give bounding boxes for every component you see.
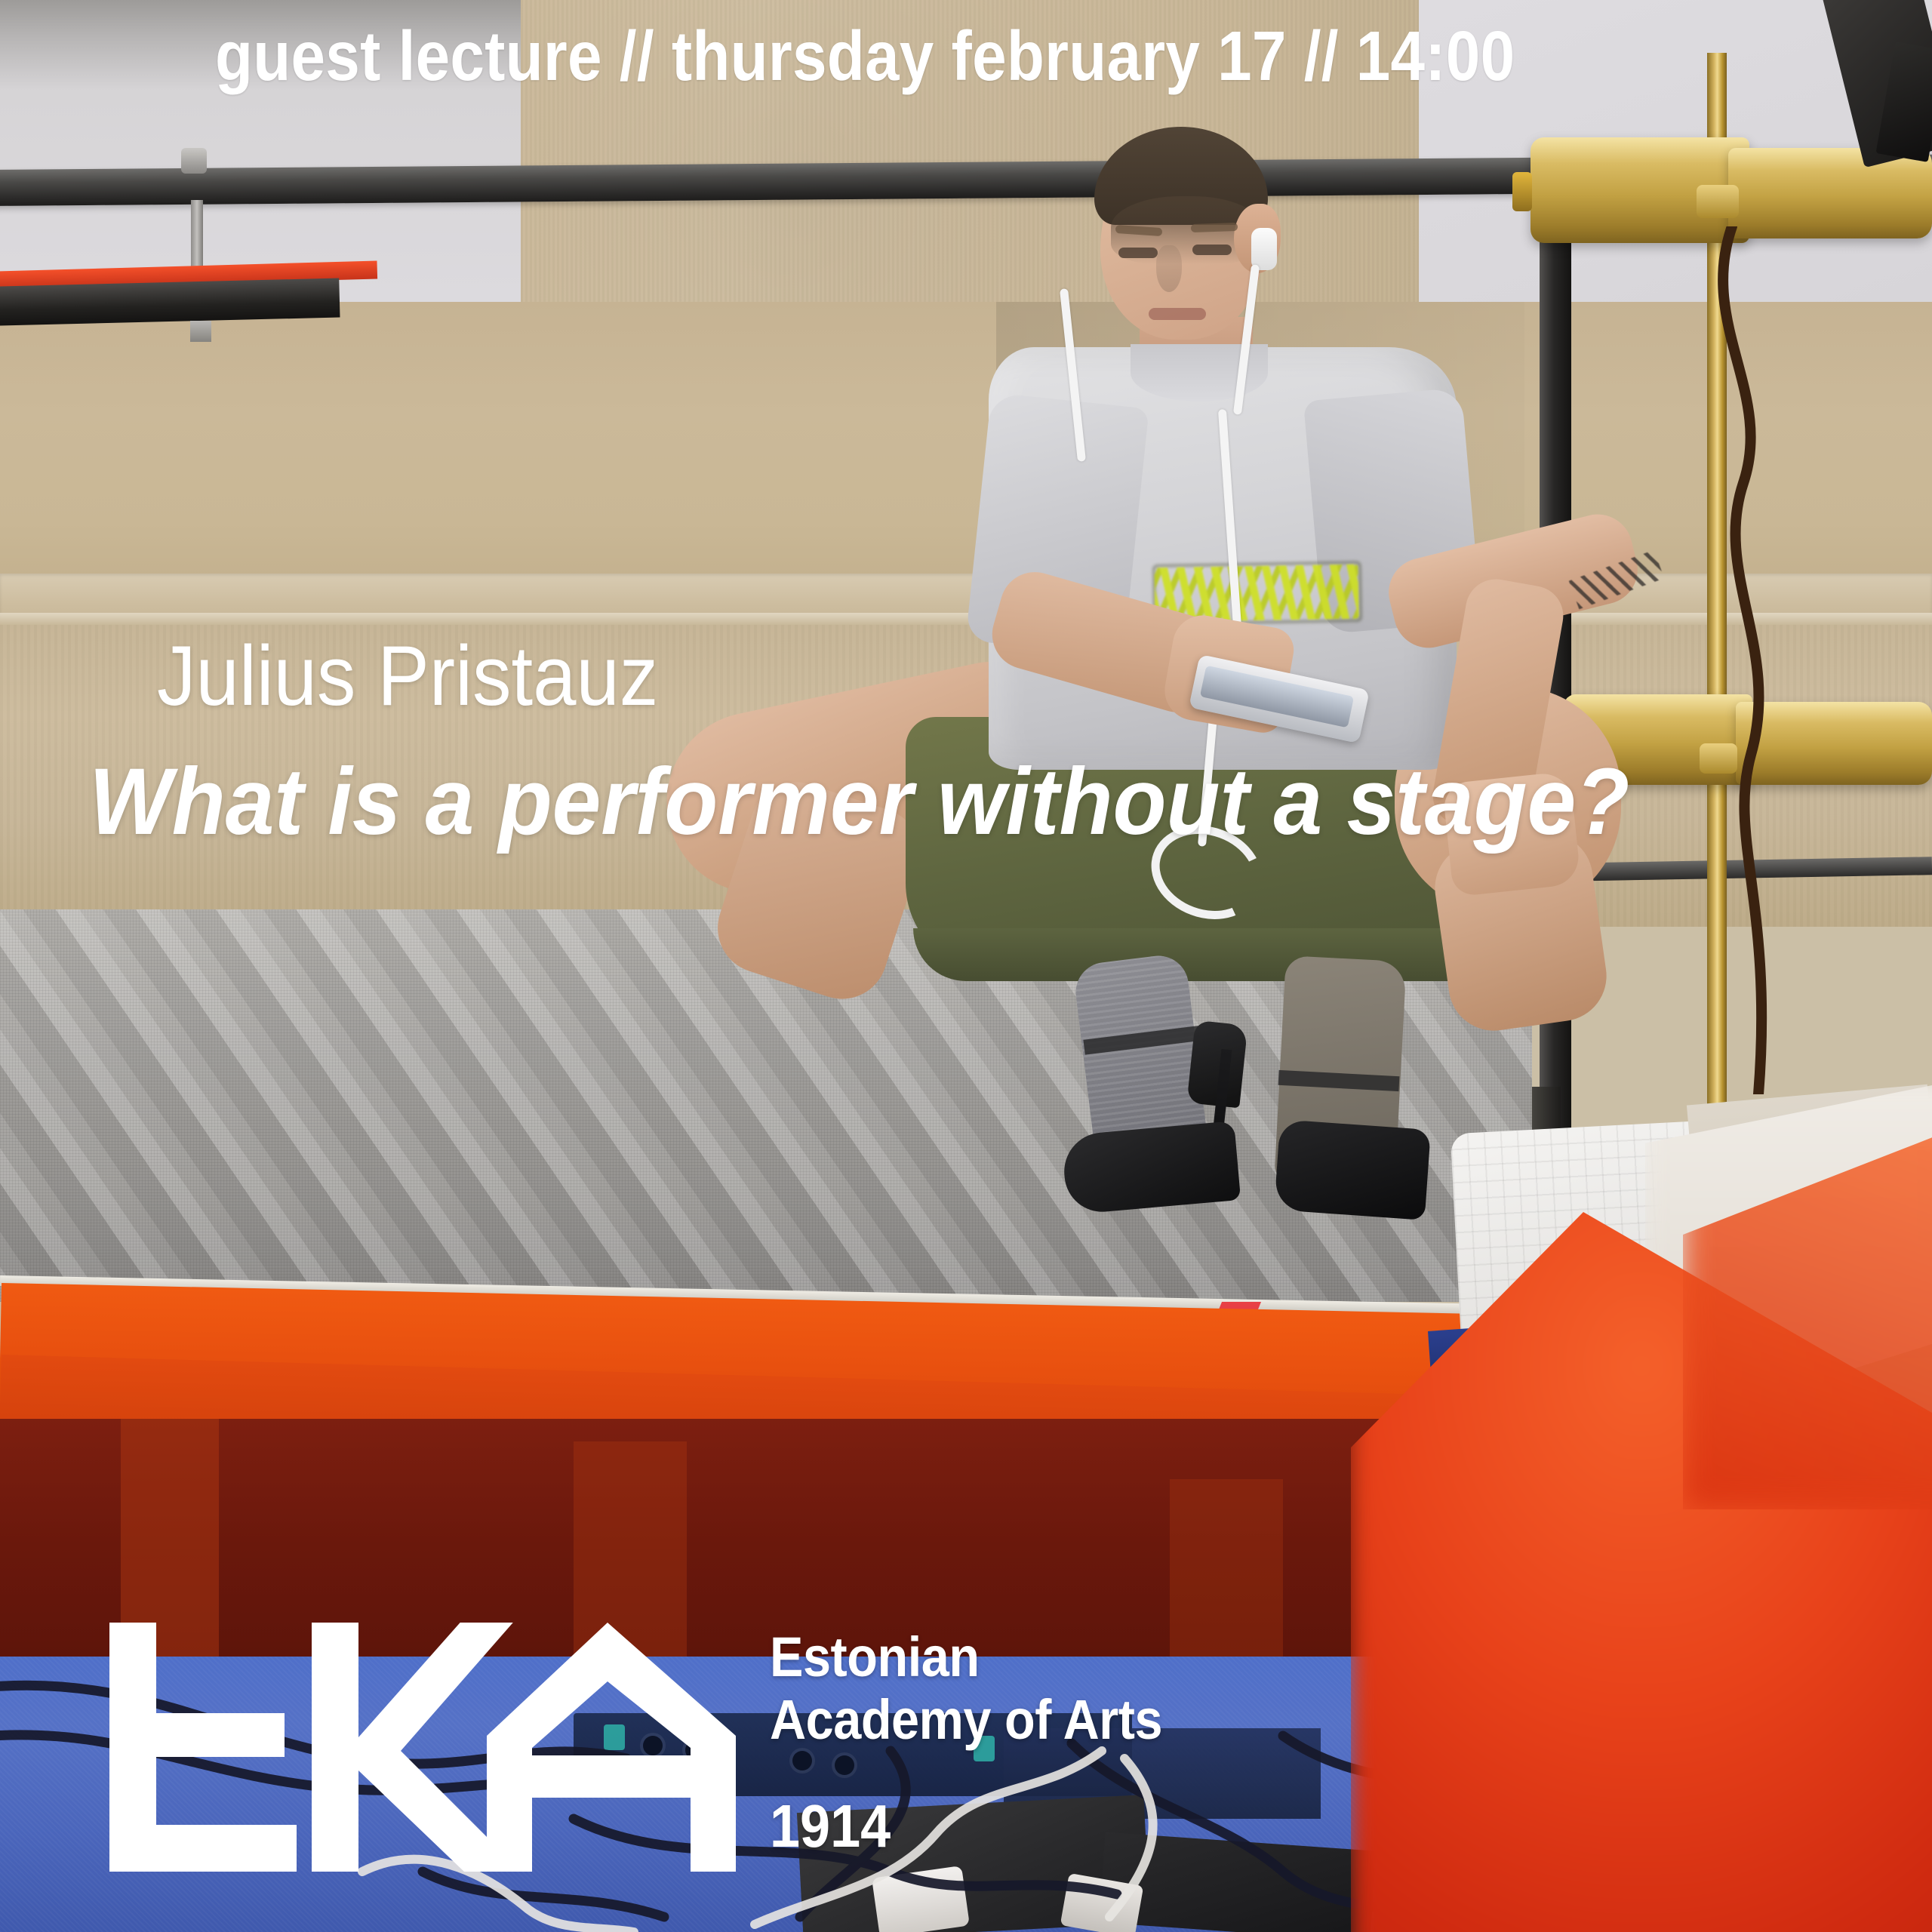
- eka-letter-k-stem: [312, 1623, 358, 1872]
- eye-left: [1118, 248, 1158, 258]
- speaker-name: Julius Pristauz: [157, 634, 658, 718]
- rail-bolt: [181, 148, 207, 174]
- eyebrow-right: [1191, 223, 1238, 232]
- nose: [1156, 245, 1182, 292]
- eka-logo: [109, 1623, 864, 1879]
- beam-nut: [190, 321, 211, 342]
- eka-logotype-mark: [109, 1623, 736, 1872]
- eka-wordmark: Estonian Academy of Arts: [770, 1626, 1162, 1752]
- poster-canvas: guest lecture // thursday february 17 //…: [0, 0, 1932, 1932]
- stiletto-shoe-left: [1061, 1121, 1241, 1215]
- eka-letter-a: [487, 1623, 736, 1872]
- mouth: [1149, 308, 1206, 320]
- brass-clamp-upper: [1697, 185, 1739, 218]
- stiletto-shoe-right: [1274, 1119, 1431, 1220]
- eka-wordmark-line-1: Estonian: [770, 1626, 1162, 1689]
- brass-lamp-upper-right: [1728, 148, 1932, 238]
- event-kicker: guest lecture // thursday february 17 //…: [215, 21, 1515, 91]
- eka-letter-e: [109, 1623, 297, 1872]
- eka-wordmark-line-2: Academy of Arts: [770, 1689, 1162, 1752]
- earbud: [1251, 228, 1277, 270]
- lamp-power-cable: [1690, 226, 1841, 1094]
- seated-performer: [815, 113, 1615, 1170]
- eka-founded-year: 1914: [770, 1796, 891, 1857]
- eye-right: [1192, 245, 1232, 255]
- lecture-title: What is a performer without a stage?: [89, 755, 1629, 849]
